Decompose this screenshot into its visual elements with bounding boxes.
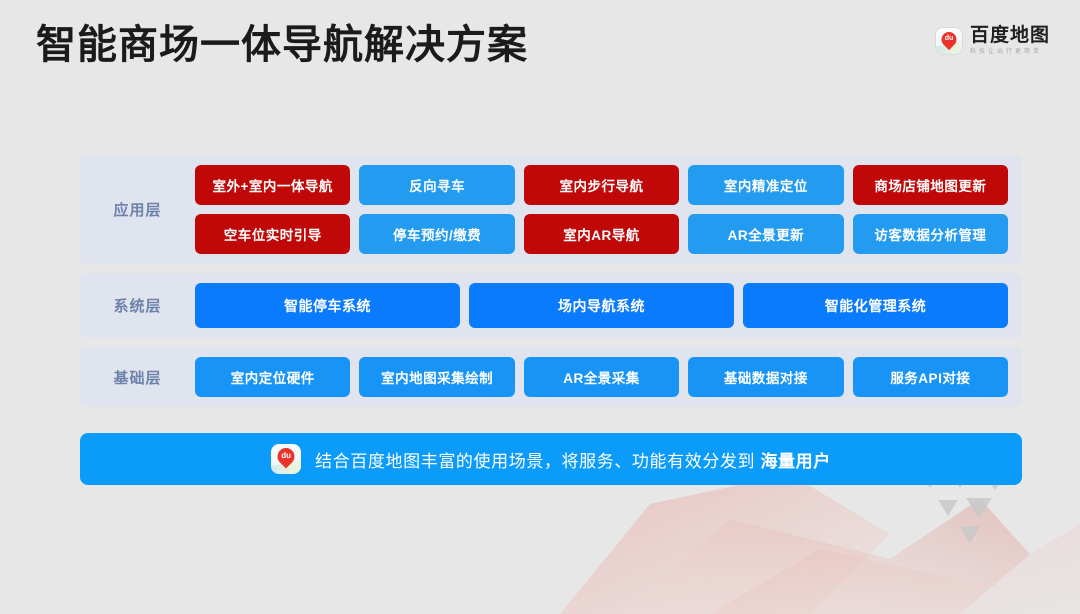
layer-label: 系统层 (80, 295, 195, 316)
capability-chip[interactable]: 空车位实时引导 (195, 214, 350, 254)
page-title: 智能商场一体导航解决方案 (36, 18, 528, 72)
capability-chip[interactable]: 室内精准定位 (688, 165, 843, 205)
layer-body: 智能停车系统场内导航系统智能化管理系统 (195, 283, 1008, 328)
layer-row: 室内定位硬件室内地图采集绘制AR全景采集基础数据对接服务API对接 (195, 357, 1008, 397)
capability-chip[interactable]: AR全景更新 (688, 214, 843, 254)
brand-tagline: 科技让出行更简单 (970, 49, 1050, 55)
capability-chip[interactable]: 室内步行导航 (524, 165, 679, 205)
capability-chip[interactable]: 场内导航系统 (469, 283, 734, 328)
layer-row: 空车位实时引导停车预约/缴费室内AR导航AR全景更新访客数据分析管理 (195, 214, 1008, 254)
pin-letters: du (281, 449, 291, 462)
capability-chip[interactable]: 商场店铺地图更新 (853, 165, 1008, 205)
layer-row: 智能停车系统场内导航系统智能化管理系统 (195, 283, 1008, 328)
capability-chip[interactable]: 反向寻车 (359, 165, 514, 205)
baidu-map-app-icon: du (271, 444, 301, 474)
capability-chip[interactable]: 访客数据分析管理 (853, 214, 1008, 254)
cta-text-normal: 结合百度地图丰富的使用场景，将服务、功能有效分发到 (315, 452, 760, 471)
cta-banner: du 结合百度地图丰富的使用场景，将服务、功能有效分发到 海量用户 (80, 433, 1022, 485)
brand-text-block: 百度地图 科技让出行更简单 (970, 26, 1050, 55)
slide-root: 智能商场一体导航解决方案 du 百度地图 科技让出行更简单 应用层室外+室内一体… (0, 0, 1080, 614)
architecture-diagram: 应用层室外+室内一体导航反向寻车室内步行导航室内精准定位商场店铺地图更新空车位实… (80, 155, 1022, 416)
architecture-layer: 应用层室外+室内一体导航反向寻车室内步行导航室内精准定位商场店铺地图更新空车位实… (80, 155, 1022, 264)
architecture-layer: 系统层智能停车系统场内导航系统智能化管理系统 (80, 273, 1022, 338)
capability-chip[interactable]: AR全景采集 (524, 357, 679, 397)
cta-banner-text: 结合百度地图丰富的使用场景，将服务、功能有效分发到 海量用户 (315, 447, 831, 472)
cta-text-emphasis: 海量用户 (760, 452, 830, 471)
layer-body: 室内定位硬件室内地图采集绘制AR全景采集基础数据对接服务API对接 (195, 357, 1008, 397)
capability-chip[interactable]: 智能化管理系统 (743, 283, 1008, 328)
capability-chip[interactable]: 停车预约/缴费 (359, 214, 514, 254)
capability-chip[interactable]: 服务API对接 (853, 357, 1008, 397)
architecture-layer: 基础层室内定位硬件室内地图采集绘制AR全景采集基础数据对接服务API对接 (80, 347, 1022, 407)
layer-body: 室外+室内一体导航反向寻车室内步行导航室内精准定位商场店铺地图更新空车位实时引导… (195, 165, 1008, 254)
capability-chip[interactable]: 智能停车系统 (195, 283, 460, 328)
layer-row: 室外+室内一体导航反向寻车室内步行导航室内精准定位商场店铺地图更新 (195, 165, 1008, 205)
pin-letters: du (945, 33, 954, 44)
baidu-map-pin-icon: du (936, 28, 962, 54)
capability-chip[interactable]: 室内地图采集绘制 (359, 357, 514, 397)
capability-chip[interactable]: 室外+室内一体导航 (195, 165, 350, 205)
capability-chip[interactable]: 基础数据对接 (688, 357, 843, 397)
layer-label: 应用层 (80, 199, 195, 220)
brand-logo: du 百度地图 科技让出行更简单 (936, 26, 1050, 55)
brand-name: 百度地图 (970, 26, 1050, 45)
capability-chip[interactable]: 室内定位硬件 (195, 357, 350, 397)
capability-chip[interactable]: 室内AR导航 (524, 214, 679, 254)
layer-label: 基础层 (80, 367, 195, 388)
